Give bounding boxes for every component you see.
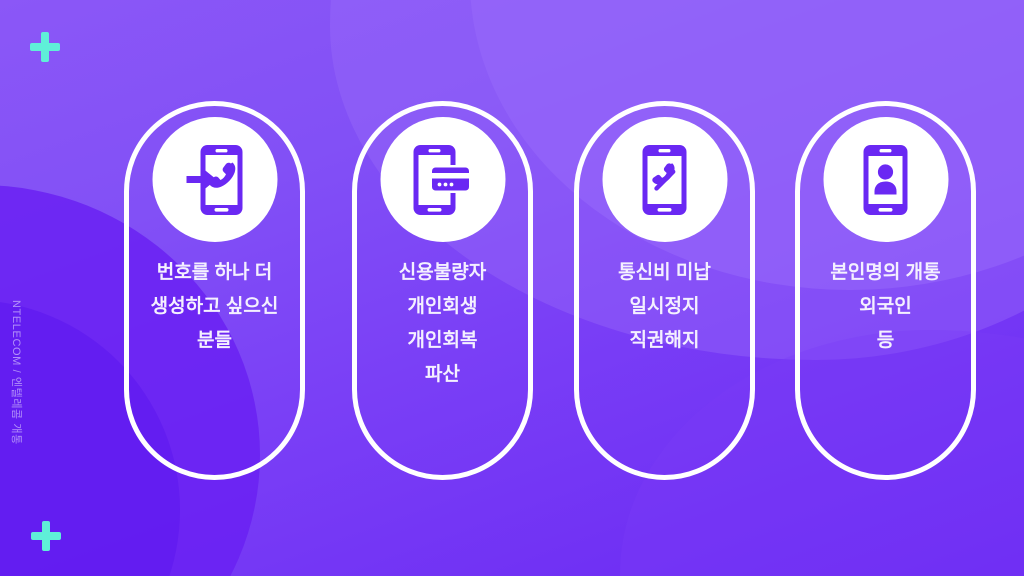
card-4-line-1: 본인명의 개통 [804,256,967,290]
phone-credit-card-icon [414,145,472,215]
card-2-line-4: 파산 [361,358,524,392]
phone-incoming-call-icon [187,145,243,215]
card-3-line-3: 직권해지 [583,324,746,358]
phone-call-barred-icon [643,145,687,215]
card-2-line-2: 개인회생 [361,290,524,324]
card-4-icon-circle [823,117,948,242]
card-3[interactable]: 통신비 미납 일시정지 직권해지 [574,101,755,480]
card-1-line-1: 번호를 하나 더 [133,256,296,290]
card-3-text: 통신비 미납 일시정지 직권해지 [579,256,750,358]
card-1-line-3: 분들 [133,324,296,358]
card-3-icon-circle [602,117,727,242]
card-2-line-3: 개인회복 [361,324,524,358]
card-2[interactable]: 신용불량자 개인회생 개인회복 파산 [352,101,533,480]
card-3-line-2: 일시정지 [583,290,746,324]
slide-canvas: NTELECOM / 엔텔레콤 개통 번호를 하나 더 생성 [0,0,1024,576]
card-4-text: 본인명의 개통 외국인 등 [800,256,971,358]
card-4-line-3: 등 [804,324,967,358]
card-3-line-1: 통신비 미납 [583,256,746,290]
card-1[interactable]: 번호를 하나 더 생성하고 싶으신 분들 [124,101,305,480]
card-1-icon-circle [152,117,277,242]
card-row: 번호를 하나 더 생성하고 싶으신 분들 [0,0,1024,576]
card-1-text: 번호를 하나 더 생성하고 싶으신 분들 [129,256,300,358]
card-4-line-2: 외국인 [804,290,967,324]
phone-user-profile-icon [864,145,908,215]
card-2-icon-circle [380,117,505,242]
card-2-text: 신용불량자 개인회생 개인회복 파산 [357,256,528,392]
card-2-line-1: 신용불량자 [361,256,524,290]
card-4[interactable]: 본인명의 개통 외국인 등 [795,101,976,480]
card-1-line-2: 생성하고 싶으신 [133,290,296,324]
